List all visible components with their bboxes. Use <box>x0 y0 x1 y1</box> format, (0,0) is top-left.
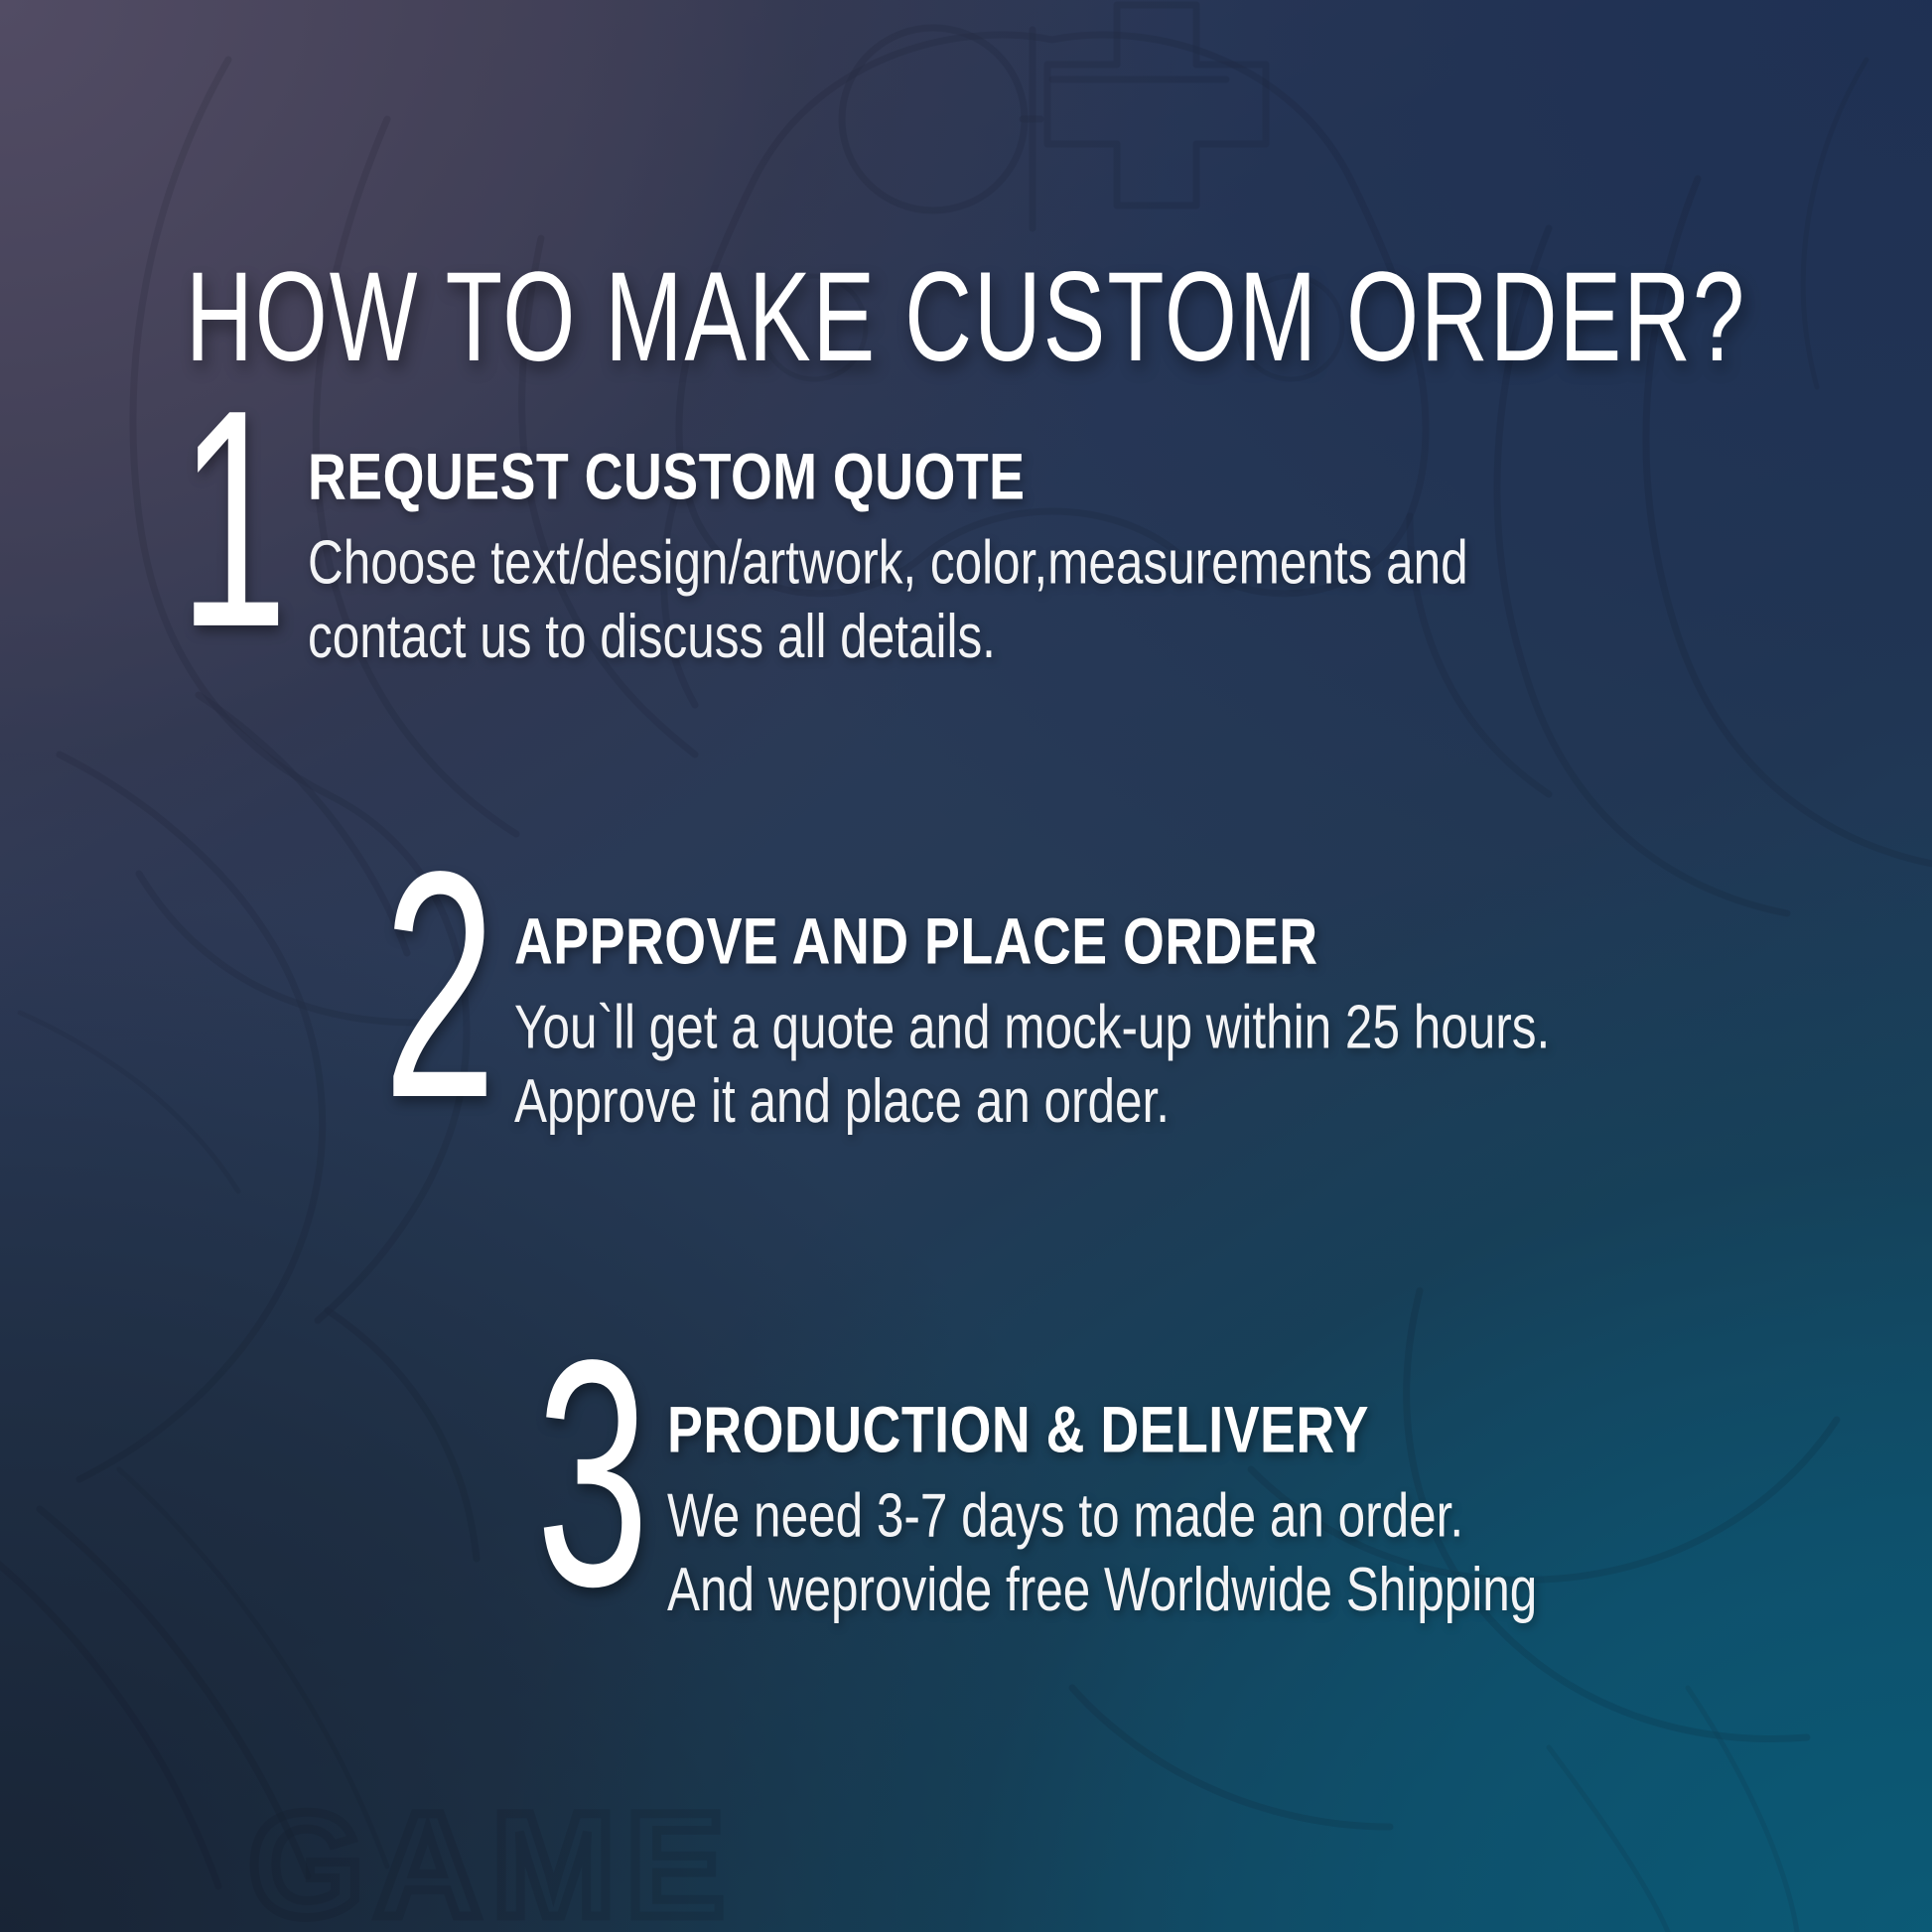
step-number-2: 2 <box>379 865 501 1103</box>
step-heading-2: APPROVE AND PLACE ORDER <box>514 908 1734 974</box>
step-item-3: 3 PRODUCTION & DELIVERY We need 3-7 days… <box>518 1382 1932 1600</box>
step-description-3: We need 3-7 days to made an order. And w… <box>667 1479 1900 1625</box>
step-heading-1: REQUEST CUSTOM QUOTE <box>308 444 1528 509</box>
step-heading-3: PRODUCTION & DELIVERY <box>667 1397 1887 1462</box>
step-number-3: 3 <box>532 1353 654 1592</box>
step-description-line: contact us to discuss all details. <box>308 601 1541 672</box>
step-body-2: APPROVE AND PLACE ORDER You`ll get a quo… <box>514 894 1785 1112</box>
step-body-1: REQUEST CUSTOM QUOTE Choose text/design/… <box>308 429 1579 647</box>
step-description-line: You`ll get a quote and mock-up within 25… <box>514 991 1747 1062</box>
step-description-line: We need 3-7 days to made an order. <box>667 1479 1900 1551</box>
step-item-1: 1 REQUEST CUSTOM QUOTE Choose text/desig… <box>159 429 1579 647</box>
step-body-3: PRODUCTION & DELIVERY We need 3-7 days t… <box>667 1382 1932 1600</box>
step-number-1: 1 <box>173 405 295 634</box>
step-description-line: And weprovide free Worldwide Shipping <box>667 1554 1900 1625</box>
step-description-2: You`ll get a quote and mock-up within 25… <box>514 991 1747 1137</box>
step-item-2: 2 APPROVE AND PLACE ORDER You`ll get a q… <box>365 894 1785 1112</box>
page-title: HOW TO MAKE CUSTOM ORDER? <box>58 251 1873 384</box>
how-to-order-poster: GAME HOW TO MAKE CUSTOM ORDER? 1 REQUEST… <box>0 0 1932 1932</box>
step-description-line: Approve it and place an order. <box>514 1065 1747 1137</box>
step-description-line: Choose text/design/artwork, color,measur… <box>308 526 1541 598</box>
step-description-1: Choose text/design/artwork, color,measur… <box>308 526 1541 672</box>
